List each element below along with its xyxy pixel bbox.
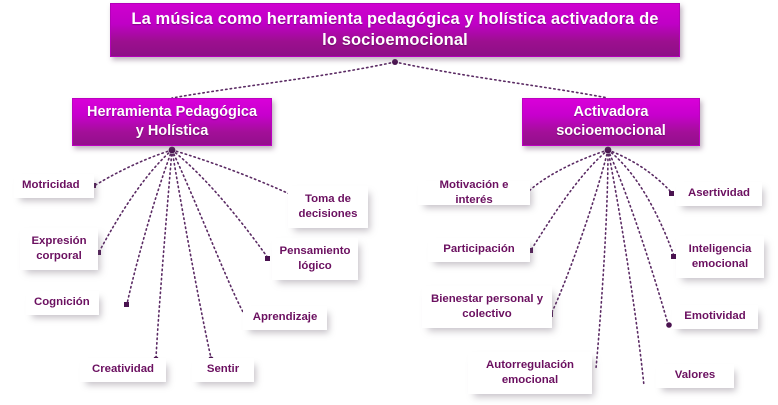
leaf-aprendizaje[interactable]: Aprendizaje [243, 306, 327, 330]
leaf-creatividad[interactable]: Creatividad [80, 358, 166, 382]
leaf-asertividad[interactable]: Asertividad [676, 182, 762, 206]
wire-left-sentir [172, 150, 211, 358]
leaf-valores[interactable]: Valores [656, 364, 734, 388]
wire-right-autorregulacion [596, 150, 608, 368]
branch-node-pedagogica[interactable]: Herramienta Pedagógica y Holística [72, 98, 272, 146]
wire-right-asertividad [608, 150, 672, 193]
leaf-bienestar-personal-y-colectivo[interactable]: Bienestar personal y colectivo [422, 286, 552, 328]
wire-left-creatividad [156, 150, 172, 358]
leaf-pensamiento-logico[interactable]: Pensamiento lógico [272, 238, 358, 280]
leaf-toma-de-decisiones[interactable]: Toma de decisiones [288, 186, 368, 228]
leaf-sentir[interactable]: Sentir [192, 358, 254, 382]
leaf-participacion[interactable]: Participación [428, 238, 530, 262]
leaf-motivacion-e-interes[interactable]: Motivación e interés [418, 181, 530, 205]
leaf-inteligencia-emocional[interactable]: Inteligencia emocional [676, 236, 764, 278]
wire-left-motricidad [94, 150, 172, 186]
leaf-motricidad[interactable]: Motricidad [14, 174, 94, 198]
mindmap-canvas: La música como herramienta pedagógica y … [0, 0, 778, 405]
leaf-expresion-corporal[interactable]: Expresión corporal [20, 228, 98, 270]
wire-left-pensamiento [172, 150, 268, 258]
wire-right-emotividad [608, 150, 668, 324]
wire-right-motivacion [528, 150, 608, 192]
wire-left-cognicion [127, 150, 172, 304]
branch-node-socioemocional[interactable]: Activadora socioemocional [522, 98, 700, 146]
leaf-autorregulacion-emocional[interactable]: Autorregulación emocional [468, 352, 592, 394]
wire-right-valores [608, 150, 644, 386]
diagram-title: La música como herramienta pedagógica y … [110, 3, 680, 57]
wire-left-expresion [99, 150, 172, 252]
leaf-emotividad[interactable]: Emotividad [672, 305, 758, 329]
wire-title-to-socioemocional [395, 62, 608, 98]
wire-left-toma-decisiones [172, 150, 294, 196]
wire-right-participacion [531, 150, 608, 250]
wire-right-bienestar [551, 150, 608, 314]
leaf-cognicion[interactable]: Cognición [26, 291, 99, 315]
connector-lines [0, 0, 778, 405]
wire-left-aprendizaje [172, 150, 243, 312]
wire-right-inteligencia [608, 150, 674, 256]
wire-title-to-pedagogica [172, 62, 395, 98]
